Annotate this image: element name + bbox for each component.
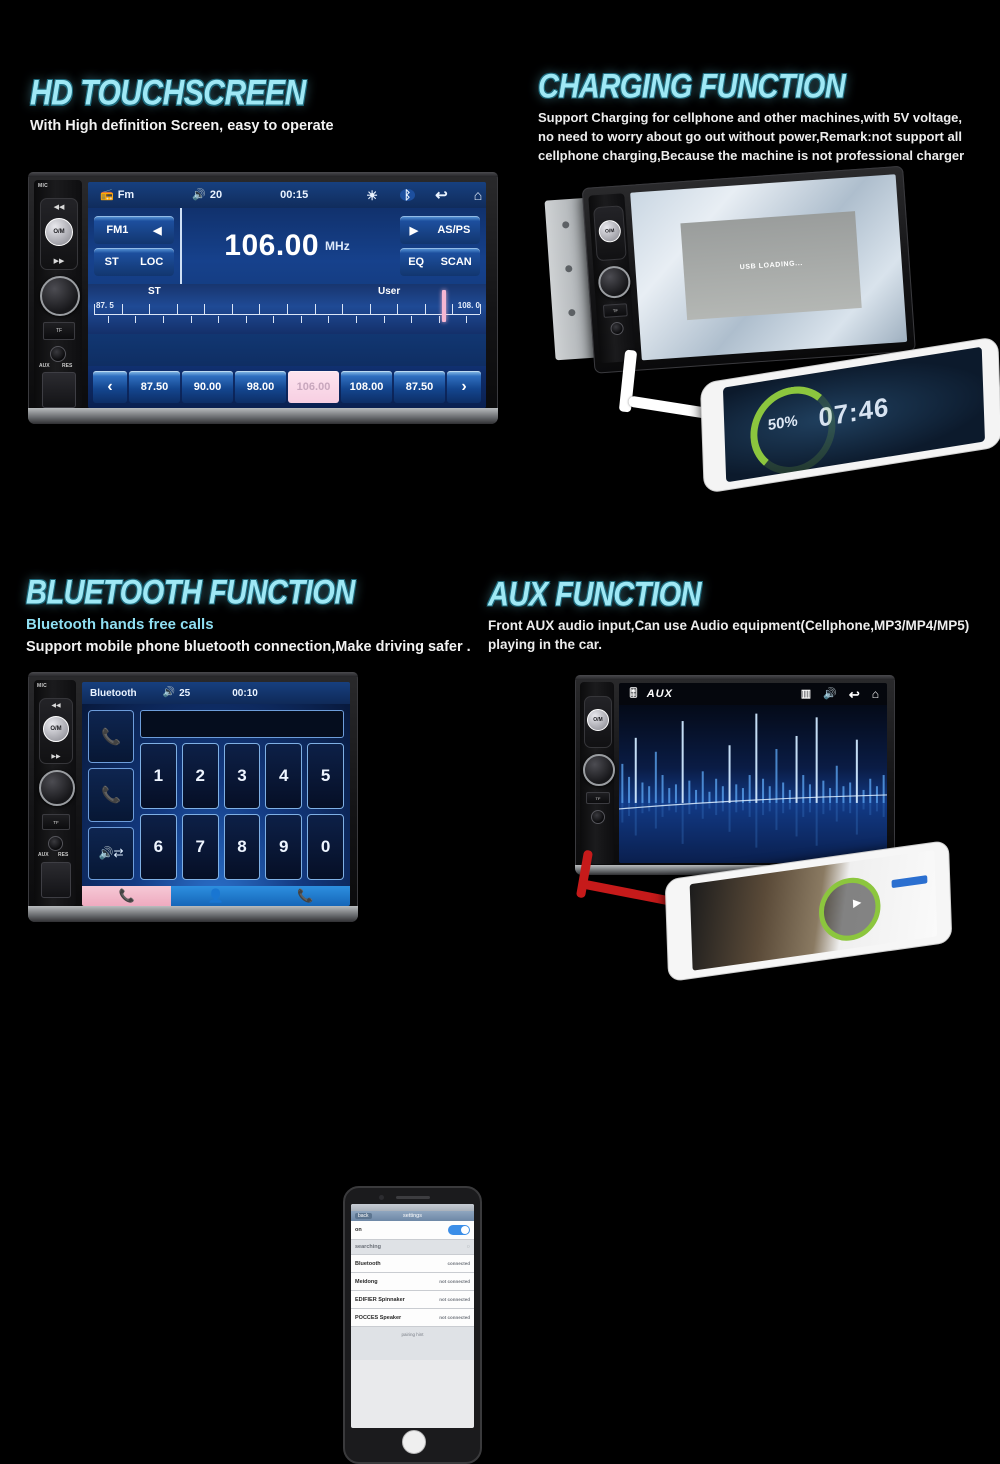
scale-tick-major: [452, 304, 453, 314]
scale-tick-minor: [191, 316, 192, 323]
aux-label: AUX: [39, 363, 50, 369]
scale-tick-major: [425, 304, 426, 314]
spectrum-bar-reflection: [775, 803, 777, 830]
volume-indicator[interactable]: 🔊 20: [192, 189, 222, 201]
ios-nav-title: settings: [403, 1213, 422, 1219]
spectrum-horizon-line: [619, 795, 887, 809]
spectrum-bar: [668, 788, 670, 803]
charging-phone-screen[interactable]: 07:46 50%: [723, 347, 985, 483]
bt-volume-knob[interactable]: [39, 770, 75, 806]
asps-label: AS/PS: [437, 224, 470, 236]
ios-device-status: not connected: [439, 1279, 470, 1284]
mic-label: MIC: [38, 183, 48, 189]
bt-tab-bar: 📞 👤 📞: [82, 886, 350, 906]
band-button[interactable]: FM1 ◀: [94, 216, 174, 244]
keypad-key[interactable]: 7: [182, 814, 219, 880]
phone-camera: [379, 1195, 384, 1200]
aux-back-arrow-icon[interactable]: ↩: [849, 688, 860, 701]
charging-body-line-2: no need to worry about go out without po…: [538, 127, 988, 146]
head-unit-aux: O/M TF 🎚 AUX ▥ 🔊 ↩ ⌂: [575, 675, 895, 875]
source-indicator[interactable]: 📻 Fm: [100, 189, 134, 201]
spectrum-bar: [682, 721, 684, 803]
bt-prev-track-icon[interactable]: ◀◀: [40, 702, 72, 709]
spectrum-bar: [655, 752, 657, 803]
scale-tick-major: [122, 304, 123, 314]
keypad-key[interactable]: 5: [307, 743, 344, 809]
scale-tick-major: [397, 304, 398, 314]
preset-button[interactable]: 87.50: [394, 371, 445, 403]
spectrum-bar-reflection: [789, 803, 791, 810]
scale-tick-major: [287, 304, 288, 314]
ios-device-list: BluetoothconnectedMeidongnot connectedED…: [351, 1255, 474, 1327]
bluetooth-phone-screen[interactable]: back settings on searching ◌ Bluetoothco…: [351, 1204, 474, 1428]
ios-toggle-switch[interactable]: [448, 1225, 470, 1235]
keypad-key[interactable]: 6: [140, 814, 177, 880]
charging-body: Support Charging for cellphone and other…: [538, 108, 988, 165]
preset-list: 87.5090.0098.00106.00108.0087.50: [129, 371, 445, 403]
spectrum-bar: [802, 775, 804, 803]
aux-heading: AUX FUNCTION: [488, 576, 701, 615]
spectrum-bar: [675, 784, 677, 803]
unit-top-trim: [28, 172, 498, 177]
scale-tick-minor: [356, 316, 357, 323]
spectrum-bar-reflection: [749, 803, 751, 817]
bt-power-button[interactable]: O/M: [43, 716, 69, 742]
spectrum-analyzer: [619, 705, 887, 863]
spectrum-bar-reflection: [782, 803, 784, 813]
brightness-icon[interactable]: ☀: [366, 189, 378, 202]
aux-body: Front AUX audio input,Can use Audio equi…: [488, 616, 998, 654]
scale-tick-major: [204, 304, 205, 314]
radio-left-buttons: FM1 ◀ ST LOC: [88, 208, 180, 284]
spectrum-bar: [769, 786, 771, 803]
scale-tick-minor: [384, 316, 385, 323]
bt-aux-jack[interactable]: [48, 836, 63, 851]
keypad-key[interactable]: 9: [265, 814, 302, 880]
bt-reset-button[interactable]: [41, 862, 71, 898]
scale-tick-minor: [273, 316, 274, 323]
aux-volume-knob[interactable]: [583, 754, 615, 786]
preset-bar: ‹ 87.5090.0098.00106.00108.0087.50 ›: [88, 366, 486, 408]
scale-tick-major: [177, 304, 178, 314]
spectrum-bar-reflection: [621, 803, 623, 823]
spectrum-bar: [883, 775, 885, 803]
spectrum-bar-reflection: [708, 803, 710, 809]
spectrum-bar: [635, 738, 637, 803]
scale-tick-minor: [246, 316, 247, 323]
loc-button-label[interactable]: LOC: [140, 256, 163, 268]
bt-unit-left-panel: MIC ◀◀ ▶▶ O/M TF AUX RES: [34, 680, 76, 906]
head-unit-charging: O/M TF USB LOADING...: [544, 166, 916, 381]
keypad-key[interactable]: 8: [224, 814, 261, 880]
spectrum-bar: [856, 740, 858, 803]
bt-keypad-row-1: 12345: [140, 743, 344, 809]
aux-volume-icon[interactable]: 🔊: [823, 689, 837, 700]
spectrum-bar: [842, 786, 844, 803]
charging-aux-jack[interactable]: [610, 322, 624, 336]
answer-call-icon[interactable]: 📞: [88, 710, 134, 763]
bluetooth-subtitle-cyan: Bluetooth hands free calls: [26, 615, 214, 635]
spectrum-bar-reflection: [816, 803, 818, 846]
aux-title: AUX: [647, 688, 673, 700]
spectrum-bar-reflection: [655, 803, 657, 829]
power-mode-button[interactable]: O/M: [45, 218, 73, 246]
scale-tick-major: [149, 304, 150, 314]
spectrum-bar: [735, 784, 737, 803]
scale-tick-major: [370, 304, 371, 314]
scale-tick-minor: [466, 316, 467, 323]
bluetooth-icon[interactable]: ᛒ: [400, 189, 415, 201]
product-feature-collage: HD TOUCHSCREEN With High definition Scre…: [0, 0, 1000, 1000]
scale-tick-major: [480, 304, 481, 314]
aux-play-icon[interactable]: ▶: [853, 896, 862, 910]
scale-tick-minor: [135, 316, 136, 323]
bt-unit-bottom-trim: [28, 906, 358, 922]
ios-back-button[interactable]: back: [355, 1213, 372, 1219]
charging-body-line-1: Support Charging for cellphone and other…: [538, 108, 988, 127]
spectrum-bar: [648, 786, 650, 803]
head-unit-radio: MIC ◀◀ ▶▶ O/M TF AUX RES 📻: [28, 172, 498, 424]
stereo-label: ST: [148, 286, 161, 297]
spectrum-bar-reflection: [829, 803, 831, 810]
usb-loading-text: USB LOADING...: [739, 260, 803, 271]
spectrum-bar: [836, 766, 838, 803]
res-label: RES: [62, 363, 72, 369]
preset-next-button[interactable]: ›: [447, 371, 481, 403]
radio-icon: 📻: [100, 190, 114, 201]
charging-screen[interactable]: USB LOADING...: [630, 174, 907, 360]
panel-hd-touchscreen: HD TOUCHSCREEN With High definition Scre…: [0, 0, 510, 520]
preset-button[interactable]: 98.00: [235, 371, 286, 403]
preset-button[interactable]: 87.50: [129, 371, 180, 403]
keypad-key[interactable]: 3: [224, 743, 261, 809]
bt-keypad-row-2: 67890: [140, 814, 344, 880]
bt-number-input[interactable]: [140, 710, 344, 738]
spectrum-bar-reflection: [836, 803, 838, 822]
bt-keypad-area: 12345 67890: [140, 710, 344, 880]
hangup-call-icon[interactable]: 📞: [88, 768, 134, 821]
phone-earpiece: [396, 1196, 430, 1199]
spectrum-bar-reflection: [722, 803, 724, 811]
spectrum-bar: [863, 790, 865, 803]
reset-button[interactable]: [42, 372, 76, 408]
spectrum-bar-reflection: [802, 803, 804, 817]
scale-tick-minor: [411, 316, 412, 323]
spectrum-bar-reflection: [755, 803, 757, 848]
ios-searching-label: searching: [355, 1244, 381, 1250]
prev-track-icon[interactable]: ◀◀: [41, 203, 77, 211]
spectrum-bar-reflection: [869, 803, 871, 815]
scale-tick-minor: [218, 316, 219, 323]
eq-button-label[interactable]: EQ: [408, 256, 424, 268]
back-arrow-icon[interactable]: ↩: [435, 188, 448, 203]
scan-button-label[interactable]: SCAN: [441, 256, 472, 268]
aux-front-jack[interactable]: [591, 810, 605, 824]
charging-unit-body: O/M TF USB LOADING...: [582, 166, 916, 374]
bt-title: Bluetooth: [90, 688, 137, 699]
keypad-key[interactable]: 0: [307, 814, 344, 880]
spectrum-bar-reflection: [842, 803, 844, 811]
spectrum-bar: [789, 790, 791, 803]
spectrum-bar: [809, 784, 811, 803]
spectrum-bar: [729, 745, 731, 803]
spectrum-bar: [688, 781, 690, 803]
prev-triangle-icon[interactable]: ◀: [153, 224, 161, 237]
scale-min-label: 87. 5: [96, 301, 114, 310]
scale-tick-minor: [301, 316, 302, 323]
volume-value: 20: [210, 189, 222, 201]
spectrum-bar-reflection: [742, 803, 744, 810]
spectrum-bar: [796, 736, 798, 803]
spectrum-bar: [662, 775, 664, 803]
spectrum-bar-reflection: [849, 803, 851, 813]
ios-device-name: Bluetooth: [355, 1261, 381, 1267]
spectrum-bar: [876, 786, 878, 803]
bt-tab-contacts[interactable]: 👤: [171, 886, 260, 906]
aux-progress-bar[interactable]: [892, 875, 928, 888]
phone-home-button[interactable]: [402, 1430, 426, 1454]
aux-jack[interactable]: [50, 346, 66, 362]
bluetooth-heading: BLUETOOTH FUNCTION: [26, 574, 355, 613]
scale-tick-major: [342, 304, 343, 314]
ios-toggle-label: on: [355, 1227, 362, 1233]
charging-body-line-3: cellphone charging,Because the machine i…: [538, 146, 988, 165]
panel-charging-function: CHARGING FUNCTION Support Charging for c…: [510, 0, 1000, 520]
aux-player-ring: [818, 874, 882, 945]
tuning-scale[interactable]: ST User 87. 5 108. 0: [88, 284, 486, 334]
spectrum-bar-reflection: [856, 803, 858, 835]
eq-scan-buttons[interactable]: EQ SCAN: [400, 248, 480, 276]
ios-status-bar: [351, 1204, 474, 1211]
spectrum-bar: [869, 779, 871, 803]
aux-tf-slot[interactable]: TF: [586, 792, 610, 804]
volume-icon: 🔊: [192, 190, 206, 201]
spectrum-svg: [619, 705, 887, 863]
scale-tick-minor: [108, 316, 109, 323]
aux-unit-top-trim: [575, 675, 895, 680]
usb-loading-area: USB LOADING...: [680, 211, 862, 320]
spectrum-bar: [749, 775, 751, 803]
charging-volume-knob[interactable]: [597, 265, 631, 299]
spectrum-bar: [641, 782, 643, 802]
spectrum-bar-reflection: [769, 803, 771, 811]
spectrum-bar-reflection: [883, 803, 885, 817]
aux-unit-left-panel: O/M TF: [580, 682, 614, 864]
aux-source-icon: 🎚: [627, 689, 640, 699]
tf-label: TF: [56, 328, 62, 334]
ios-spinner-icon: ◌: [467, 1244, 470, 1250]
scale-tick-minor: [163, 316, 164, 323]
ios-device-row[interactable]: POCCES Speakernot connected: [351, 1309, 474, 1327]
radio-screen[interactable]: 📻 Fm 🔊 20 00:15 ☀ ᛒ ↩ ⌂: [88, 182, 486, 408]
bt-volume-icon: 🔊: [163, 688, 175, 698]
spectrum-bar-reflection: [735, 803, 737, 812]
scale-tick-minor: [439, 316, 440, 323]
spectrum-bar-reflection: [876, 803, 878, 811]
spectrum-bar: [702, 771, 704, 803]
audio-transfer-icon[interactable]: 🔊⇄: [88, 827, 134, 880]
aux-body-line-2: playing in the car.: [488, 635, 998, 654]
bluetooth-subtitle-white: Support mobile phone bluetooth connectio…: [26, 638, 471, 657]
bt-status-bar: Bluetooth 🔊 25 00:10: [82, 682, 350, 704]
ios-device-name: POCCES Speaker: [355, 1315, 401, 1321]
spectrum-bar-reflection: [668, 803, 670, 810]
bt-res-label: RES: [58, 852, 68, 858]
aux-screen[interactable]: 🎚 AUX ▥ 🔊 ↩ ⌂: [619, 683, 887, 863]
spectrum-bar: [715, 779, 717, 803]
bt-tf-slot[interactable]: TF: [42, 814, 70, 830]
spectrum-bar-reflection: [688, 803, 690, 814]
panel-bluetooth-function: BLUETOOTH FUNCTION Bluetooth hands free …: [0, 520, 480, 1000]
radio-main-row: FM1 ◀ ST LOC 106.00 MHz: [88, 208, 486, 284]
ios-device-status: not connected: [439, 1315, 470, 1320]
bt-aux-label: AUX: [38, 852, 49, 858]
spectrum-bar-reflection: [641, 803, 643, 813]
ios-device-status: connected: [447, 1261, 470, 1266]
ios-footer-note: pairing hint: [351, 1327, 474, 1360]
bt-next-track-icon[interactable]: ▶▶: [40, 753, 72, 760]
spectrum-bar: [849, 782, 851, 802]
band-label: FM1: [106, 224, 128, 236]
bt-mic-label: MIC: [37, 683, 47, 689]
spectrum-bar-reflection: [863, 803, 865, 810]
keypad-key[interactable]: 1: [140, 743, 177, 809]
ios-searching-row: searching ◌: [351, 1240, 474, 1255]
panel-aux-function: AUX FUNCTION Front AUX audio input,Can u…: [480, 520, 1000, 1000]
keypad-key[interactable]: 4: [265, 743, 302, 809]
spectrum-bar-reflection: [715, 803, 717, 815]
scale-tick-major: [259, 304, 260, 314]
scale-tick-major: [94, 304, 95, 314]
charging-heading: CHARGING FUNCTION: [538, 68, 845, 107]
preset-button[interactable]: 106.00: [288, 371, 339, 403]
spectrum-bar-reflection: [796, 803, 798, 836]
spectrum-bar: [695, 790, 697, 803]
scale-tick-minor: [328, 316, 329, 323]
spectrum-bar: [755, 714, 757, 803]
ios-nav-bar: back settings: [351, 1211, 474, 1221]
bt-clock: 00:10: [232, 688, 258, 699]
spectrum-bar-reflection: [702, 803, 704, 819]
tuning-marker[interactable]: [442, 290, 446, 322]
spectrum-bar: [621, 764, 623, 803]
preset-button[interactable]: 108.00: [341, 371, 392, 403]
preset-prev-button[interactable]: ‹: [93, 371, 127, 403]
asps-button[interactable]: ▶ AS/PS: [400, 216, 480, 244]
clock: 00:15: [280, 189, 308, 201]
spectrum-bar: [628, 777, 630, 803]
spectrum-bar: [708, 792, 710, 803]
aux-home-icon[interactable]: ⌂: [872, 688, 879, 700]
bt-call-controls: 📞 📞 🔊⇄: [88, 710, 134, 880]
keypad-key[interactable]: 2: [182, 743, 219, 809]
equalizer-icon[interactable]: ▥: [801, 689, 811, 700]
scale-max-label: 108. 0: [458, 301, 480, 310]
tf-card-slot[interactable]: TF: [43, 322, 75, 340]
scale-axis: [94, 314, 480, 315]
bluetooth-phone: back settings on searching ◌ Bluetoothco…: [343, 1186, 482, 1464]
frequency-value: 106.00: [224, 229, 319, 263]
ios-device-name: EDIFIER Spinnaker: [355, 1297, 405, 1303]
ios-device-row[interactable]: Meidongnot connected: [351, 1273, 474, 1291]
spectrum-bar: [782, 782, 784, 802]
bt-tab-history[interactable]: 📞: [261, 886, 350, 906]
next-track-icon[interactable]: ▶▶: [41, 257, 77, 265]
spectrum-bar: [822, 781, 824, 803]
st-loc-buttons[interactable]: ST LOC: [94, 248, 174, 276]
user-label: User: [378, 286, 400, 297]
bt-unit-top-trim: [28, 672, 358, 677]
radio-status-bar: 📻 Fm 🔊 20 00:15 ☀ ᛒ ↩ ⌂: [88, 182, 486, 208]
hd-subtitle: With High definition Screen, easy to ope…: [30, 117, 334, 136]
unit-bottom-trim: [28, 408, 498, 424]
spectrum-bar: [775, 749, 777, 803]
frequency-display: 106.00 MHz: [180, 208, 394, 284]
spectrum-bar-reflection: [762, 803, 764, 815]
frequency-unit: MHz: [325, 239, 350, 253]
next-triangle-icon[interactable]: ▶: [410, 224, 418, 237]
st-button-label[interactable]: ST: [105, 256, 119, 268]
spectrum-bar-reflection: [809, 803, 811, 812]
source-label: Fm: [118, 189, 135, 201]
bt-volume-value: 25: [179, 688, 190, 699]
spectrum-bar-reflection: [822, 803, 824, 814]
spectrum-bar-reflection: [628, 803, 630, 816]
home-icon[interactable]: ⌂: [474, 188, 482, 202]
bluetooth-screen[interactable]: Bluetooth 🔊 25 00:10 📞 📞 🔊⇄ 12345 67890: [82, 682, 350, 906]
unit-left-control-panel: MIC ◀◀ ▶▶ O/M TF AUX RES: [34, 180, 82, 408]
spectrum-bar: [722, 786, 724, 803]
aux-status-bar: 🎚 AUX ▥ 🔊 ↩ ⌂: [619, 683, 887, 705]
ios-device-status: not connected: [439, 1297, 470, 1302]
spectrum-bar: [829, 788, 831, 803]
scale-tick-major: [232, 304, 233, 314]
bt-dialer: 📞 📞 🔊⇄ 12345 67890: [82, 704, 350, 886]
ios-device-name: Meidong: [355, 1279, 378, 1285]
aux-power-button[interactable]: O/M: [587, 709, 609, 731]
ios-device-row[interactable]: Bluetoothconnected: [351, 1255, 474, 1273]
volume-knob[interactable]: [40, 276, 80, 316]
spectrum-bar-reflection: [682, 803, 684, 844]
spectrum-bar-reflection: [729, 803, 731, 832]
preset-button[interactable]: 90.00: [182, 371, 233, 403]
ios-bluetooth-toggle-row[interactable]: on: [351, 1221, 474, 1240]
scale-tick-major: [315, 304, 316, 314]
spectrum-bar: [816, 717, 818, 803]
ios-device-row[interactable]: EDIFIER Spinnakernot connected: [351, 1291, 474, 1309]
aux-body-line-1: Front AUX audio input,Can use Audio equi…: [488, 616, 998, 635]
charging-tf-slot[interactable]: TF: [603, 303, 628, 318]
head-unit-bluetooth: MIC ◀◀ ▶▶ O/M TF AUX RES Bluetooth 🔊 25: [28, 672, 358, 922]
hd-heading: HD TOUCHSCREEN: [30, 74, 306, 114]
radio-right-buttons: ▶ AS/PS EQ SCAN: [394, 208, 486, 284]
bt-tab-dialpad[interactable]: 📞: [82, 886, 171, 906]
